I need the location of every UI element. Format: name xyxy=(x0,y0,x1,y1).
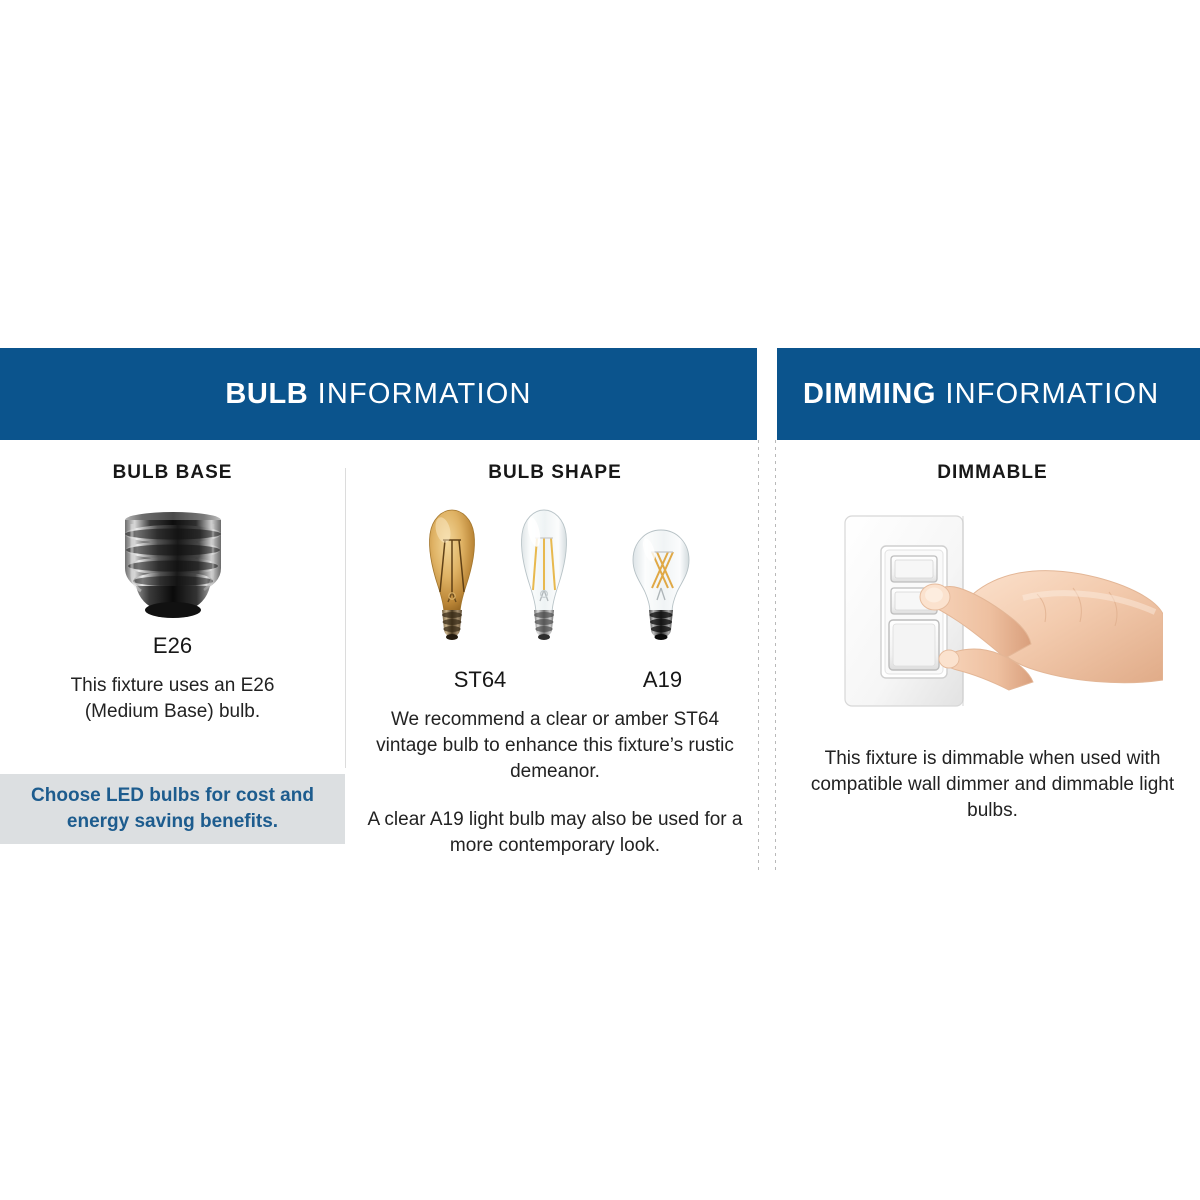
wall-dimmer-switch-icon xyxy=(823,502,1163,732)
a19-label: A19 xyxy=(643,667,682,692)
dimming-information-header-text: DIMMING INFORMATION xyxy=(777,378,1159,411)
bulb-base-description: This fixture uses an E26 (Medium Base) b… xyxy=(0,673,345,725)
dimming-information-header: DIMMING INFORMATION xyxy=(777,348,1200,440)
bulb-shape-images xyxy=(360,504,750,659)
led-callout-text: Choose LED bulbs for cost and energy sav… xyxy=(0,783,345,835)
bulb-header-rest: INFORMATION xyxy=(308,378,531,410)
bulb-base-column: BULB BASE xyxy=(0,462,345,725)
bulb-information-header-text: BULB INFORMATION xyxy=(225,378,531,411)
dimming-header-bold: DIMMING xyxy=(803,378,936,410)
e26-bulb-base-icon xyxy=(103,506,243,621)
bulb-shape-title: BULB SHAPE xyxy=(360,462,750,484)
bulb-shape-paragraph-2: A clear A19 light bulb may also be used … xyxy=(360,807,750,859)
bulb-base-title: BULB BASE xyxy=(0,462,345,484)
dimming-header-rest: INFORMATION xyxy=(936,378,1159,410)
bulb-header-bold: BULB xyxy=(225,378,308,410)
led-callout-box: Choose LED bulbs for cost and energy sav… xyxy=(0,774,345,844)
panel-divider-dotted-left xyxy=(758,440,759,870)
dimmable-column: DIMMABLE xyxy=(785,462,1200,824)
clear-a19-bulb-icon xyxy=(627,526,695,659)
bulb-base-label: E26 xyxy=(0,633,345,659)
amber-st64-bulb-icon xyxy=(415,506,489,659)
st64-label: ST64 xyxy=(454,667,507,692)
dimmable-description: This fixture is dimmable when used with … xyxy=(785,746,1200,824)
infographic-canvas: BULB INFORMATION DIMMING INFORMATION BUL… xyxy=(0,0,1200,1200)
column-divider xyxy=(345,468,346,768)
dimmable-title: DIMMABLE xyxy=(785,462,1200,484)
bulb-shape-labels: ST64 A19 xyxy=(360,667,750,693)
bulb-information-header: BULB INFORMATION xyxy=(0,348,757,440)
clear-st64-bulb-icon xyxy=(507,506,581,659)
bulb-shape-column: BULB SHAPE xyxy=(360,462,750,859)
bulb-shape-paragraph-1: We recommend a clear or amber ST64 vinta… xyxy=(360,707,750,785)
panel-divider-dotted-right xyxy=(775,440,776,870)
